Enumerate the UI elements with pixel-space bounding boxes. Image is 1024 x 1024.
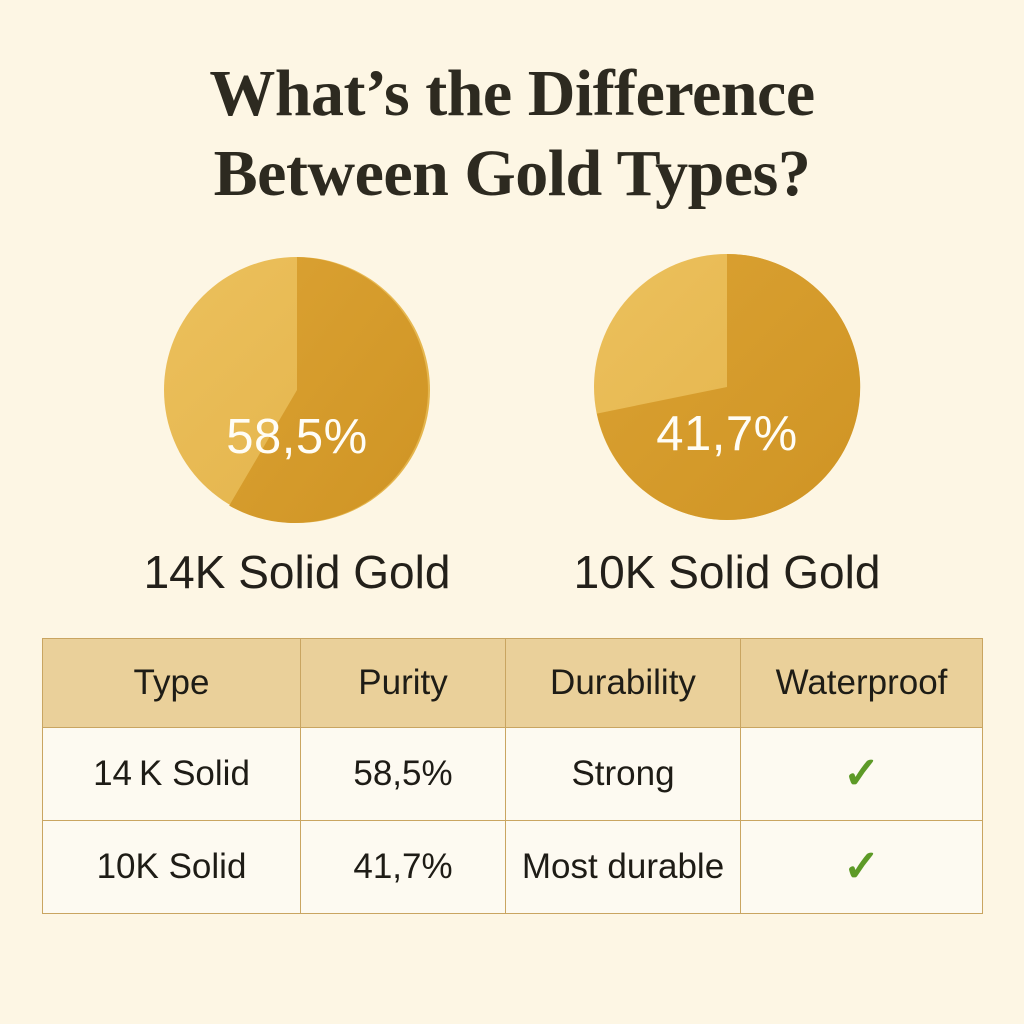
check-icon: ✓ bbox=[843, 752, 880, 796]
pie-captions: 14K Solid Gold 10K Solid Gold bbox=[0, 545, 1024, 607]
pie-chart-14k-svg bbox=[162, 255, 432, 525]
pie-chart-10k: 41,7% bbox=[592, 252, 862, 522]
cell-type: 10K Solid bbox=[43, 821, 301, 914]
cell-durability: Most durable bbox=[506, 821, 741, 914]
title-line-2: Between Gold Types? bbox=[0, 134, 1024, 214]
table-header-purity: Purity bbox=[301, 639, 506, 728]
pie-chart-group: 58,5% 41,7% bbox=[0, 252, 1024, 542]
check-icon: ✓ bbox=[843, 845, 880, 889]
table-header-row: Type Purity Durability Waterproof bbox=[43, 639, 983, 728]
pie-caption-10k: 10K Solid Gold bbox=[512, 545, 942, 599]
cell-waterproof: ✓ bbox=[741, 821, 983, 914]
pie-chart-10k-svg bbox=[592, 252, 862, 522]
cell-waterproof: ✓ bbox=[741, 728, 983, 821]
table-row: 10K Solid 41,7% Most durable ✓ bbox=[43, 821, 983, 914]
table-header-durability: Durability bbox=[506, 639, 741, 728]
gold-types-infographic: What’s the Difference Between Gold Types… bbox=[0, 0, 1024, 1024]
cell-purity: 41,7% bbox=[301, 821, 506, 914]
table-row: 14 K Solid 58,5% Strong ✓ bbox=[43, 728, 983, 821]
title-line-1: What’s the Difference bbox=[0, 54, 1024, 134]
page-title: What’s the Difference Between Gold Types… bbox=[0, 54, 1024, 214]
cell-durability: Strong bbox=[506, 728, 741, 821]
cell-purity: 58,5% bbox=[301, 728, 506, 821]
table-header-type: Type bbox=[43, 639, 301, 728]
cell-type: 14 K Solid bbox=[43, 728, 301, 821]
table-header-waterproof: Waterproof bbox=[741, 639, 983, 728]
comparison-table: Type Purity Durability Waterproof 14 K S… bbox=[42, 638, 983, 914]
pie-caption-14k: 14K Solid Gold bbox=[82, 545, 512, 599]
pie-chart-14k: 58,5% bbox=[162, 255, 432, 525]
